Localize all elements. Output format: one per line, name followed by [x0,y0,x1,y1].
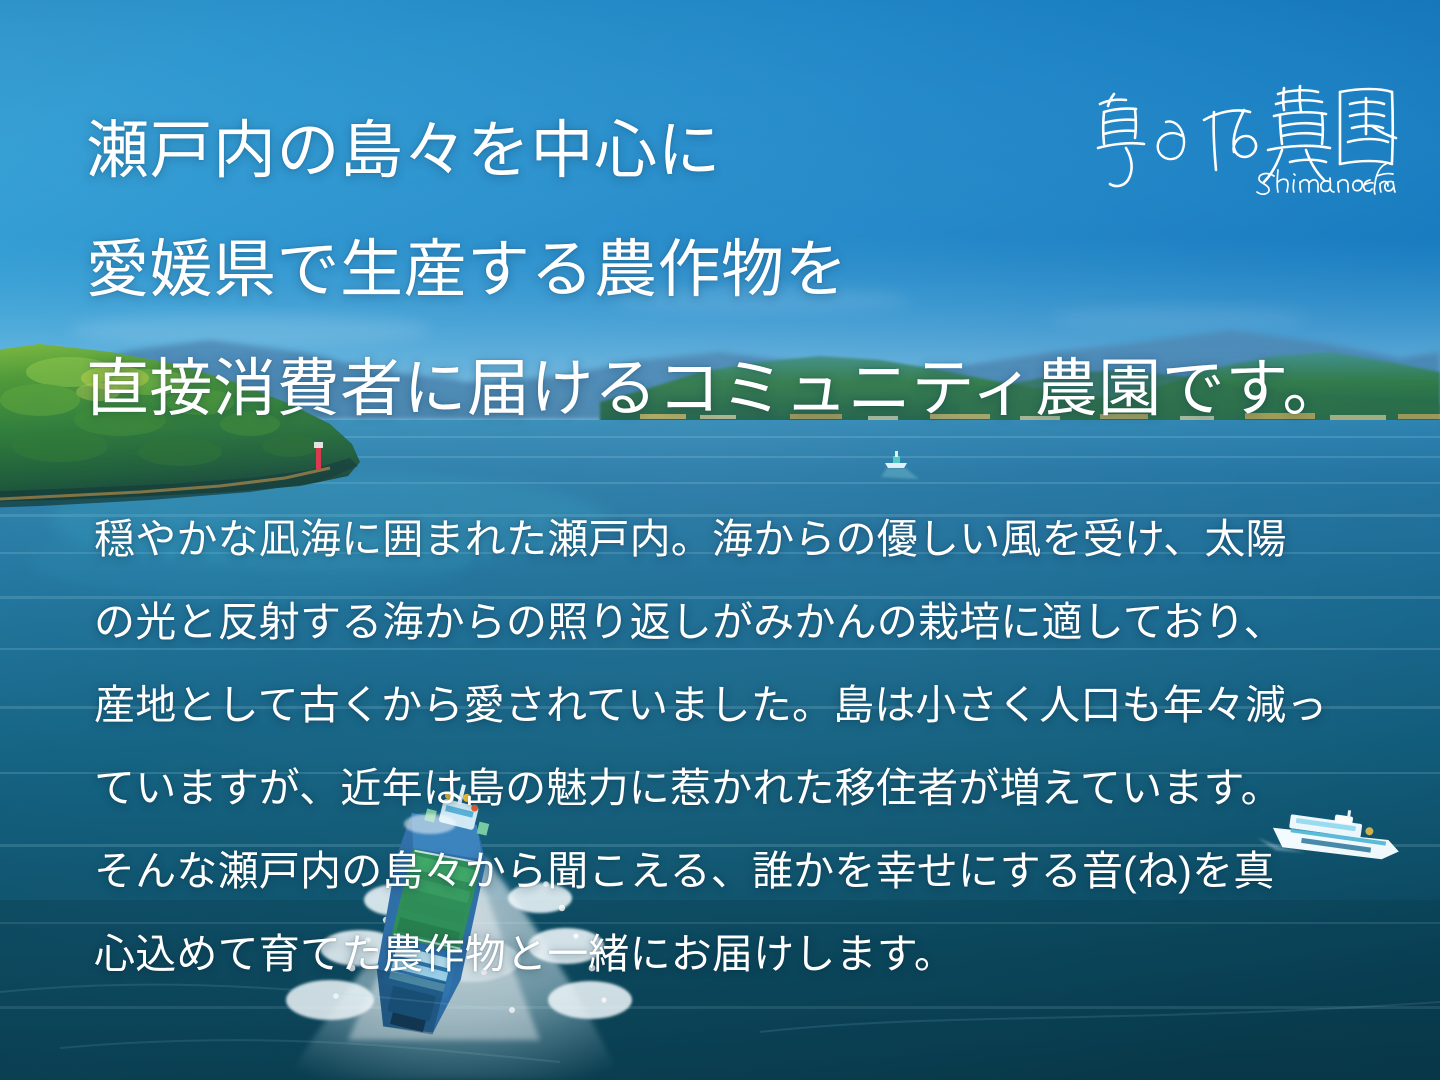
body-line-5: そんな瀬戸内の島々から聞こえる、誰かを幸せにする音(ね)を真 [94,830,1364,913]
brand-logo-mark [1078,78,1398,196]
body-copy: 穏やかな凪海に囲まれた瀬戸内。海からの優しい風を受け、太陽 の光と反射する海から… [94,498,1364,996]
body-line-4: ていますが、近年は島の魅力に惹かれた移住者が増えています。 [94,747,1364,830]
headline-line-2: 愛媛県で生産する農作物を [86,211,1346,330]
body-line-1: 穏やかな凪海に囲まれた瀬戸内。海からの優しい風を受け、太陽 [94,498,1364,581]
body-line-2: の光と反射する海からの照り返しがみかんの栽培に適しており、 [94,581,1364,664]
brand-logo[interactable] [1078,78,1398,196]
logo-char-en [1340,89,1396,164]
logo-char-shima [1098,94,1144,186]
headline-line-3: 直接消費者に届けるコミュニティ農園です。 [86,330,1346,449]
hero-slide: 瀬戸内の島々を中心に 愛媛県で生産する農作物を 直接消費者に届けるコミュニティ農… [0,0,1440,1080]
body-line-6: 心込めて育てた農作物と一緒にお届けします。 [94,913,1364,996]
body-line-3: 産地として古くから愛されていました。島は小さく人口も年々減っ [94,664,1364,747]
logo-romaji [1257,164,1395,194]
logo-char-no [1158,121,1184,159]
logo-char-nou [1264,86,1330,182]
logo-char-ne [1204,110,1256,170]
